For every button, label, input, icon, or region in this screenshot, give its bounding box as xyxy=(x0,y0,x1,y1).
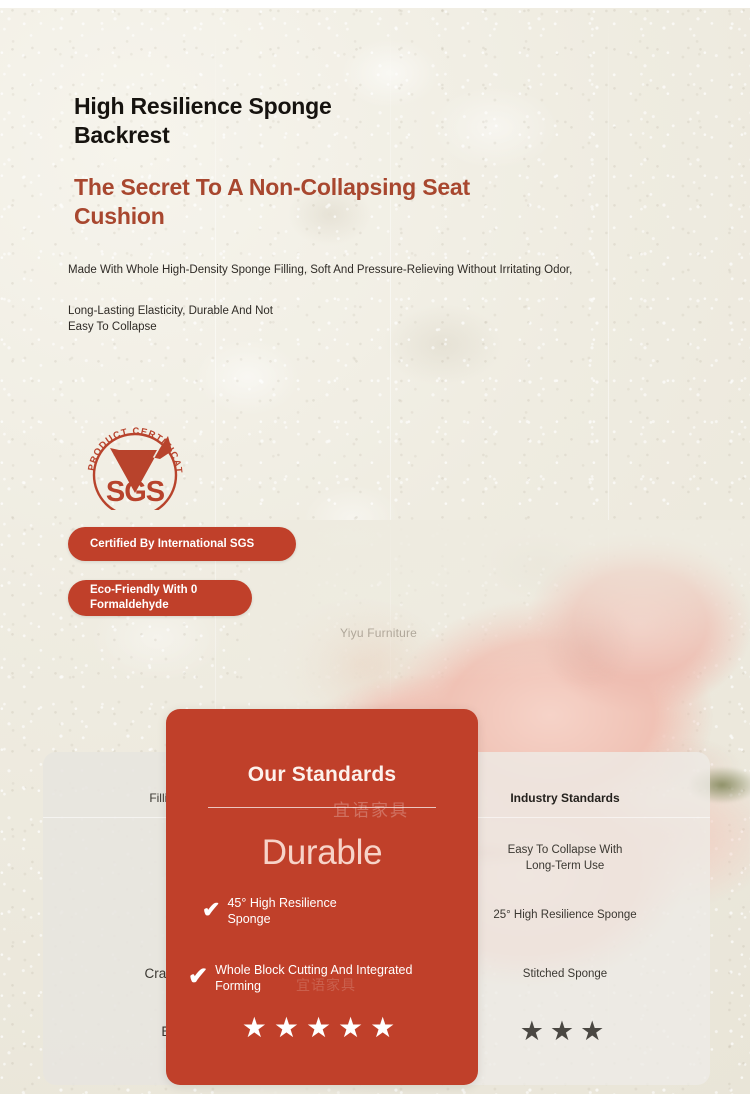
headline-accent-line2: Cushion xyxy=(74,202,544,231)
our-standards-density-line2: Sponge xyxy=(227,912,270,926)
product-detail-page: High Resilience Sponge Backrest The Secr… xyxy=(0,0,750,1094)
headline-primary-line2: Backrest xyxy=(74,121,544,150)
our-standards-quality-value: Durable xyxy=(166,833,478,873)
our-standards-craftsmanship-line2: Forming xyxy=(215,979,261,993)
top-white-strip xyxy=(0,0,750,8)
sgs-logo-icon: PRODUCT CERTIFICATION SGS xyxy=(80,415,190,510)
body-copy: Made With Whole High-Density Sponge Fill… xyxy=(68,262,628,336)
watermark-chinese: 宜语家具 xyxy=(333,796,409,821)
sgs-certification-logo: PRODUCT CERTIFICATION SGS xyxy=(80,415,190,510)
our-standards-elasticity-stars: ★★★★★ xyxy=(166,1014,478,1042)
body-copy-line1: Made With Whole High-Density Sponge Fill… xyxy=(68,262,628,279)
headline-primary-line1: High Resilience Sponge xyxy=(74,92,544,121)
headline-accent: The Secret To A Non-Collapsing Seat Cush… xyxy=(74,173,544,230)
badge-eco-friendly-line2: Formaldehyde xyxy=(90,599,169,611)
watermark-english: Yiyu Furniture xyxy=(340,626,417,640)
body-copy-line2: Long-Lasting Elasticity, Durable And Not… xyxy=(68,303,298,336)
headline-accent-line1: The Secret To A Non-Collapsing Seat xyxy=(74,173,544,202)
page-title: High Resilience Sponge Backrest The Secr… xyxy=(74,92,544,230)
our-standards-card: Our Standards Durable ✔ 45° High Resilie… xyxy=(166,709,478,1085)
our-standards-density-line1: 45° High Resilience xyxy=(227,896,336,910)
our-standards-density-row: ✔ 45° High Resilience Sponge xyxy=(202,895,442,927)
watermark-chinese-small: 宜语家具 xyxy=(296,975,356,995)
svg-text:SGS: SGS xyxy=(106,476,165,508)
badge-certified-sgs-label: Certified By International SGS xyxy=(90,537,254,552)
badge-eco-friendly-label: Eco-Friendly With 0 Formaldehyde xyxy=(90,583,197,613)
body-copy-line3: Easy To Collapse xyxy=(68,319,298,336)
body-copy-line2a: Long-Lasting Elasticity, Durable And Not xyxy=(68,303,298,320)
headline-primary: High Resilience Sponge Backrest xyxy=(74,92,544,149)
badge-eco-friendly: Eco-Friendly With 0 Formaldehyde xyxy=(68,580,252,616)
checkmark-icon: ✔ xyxy=(188,965,208,989)
checkmark-icon: ✔ xyxy=(202,899,220,921)
our-standards-density-value: 45° High Resilience Sponge xyxy=(227,895,347,927)
our-standards-title: Our Standards xyxy=(166,763,478,787)
badge-certified-sgs: Certified By International SGS xyxy=(68,527,296,561)
badge-eco-friendly-line1: Eco-Friendly With 0 xyxy=(90,584,197,596)
